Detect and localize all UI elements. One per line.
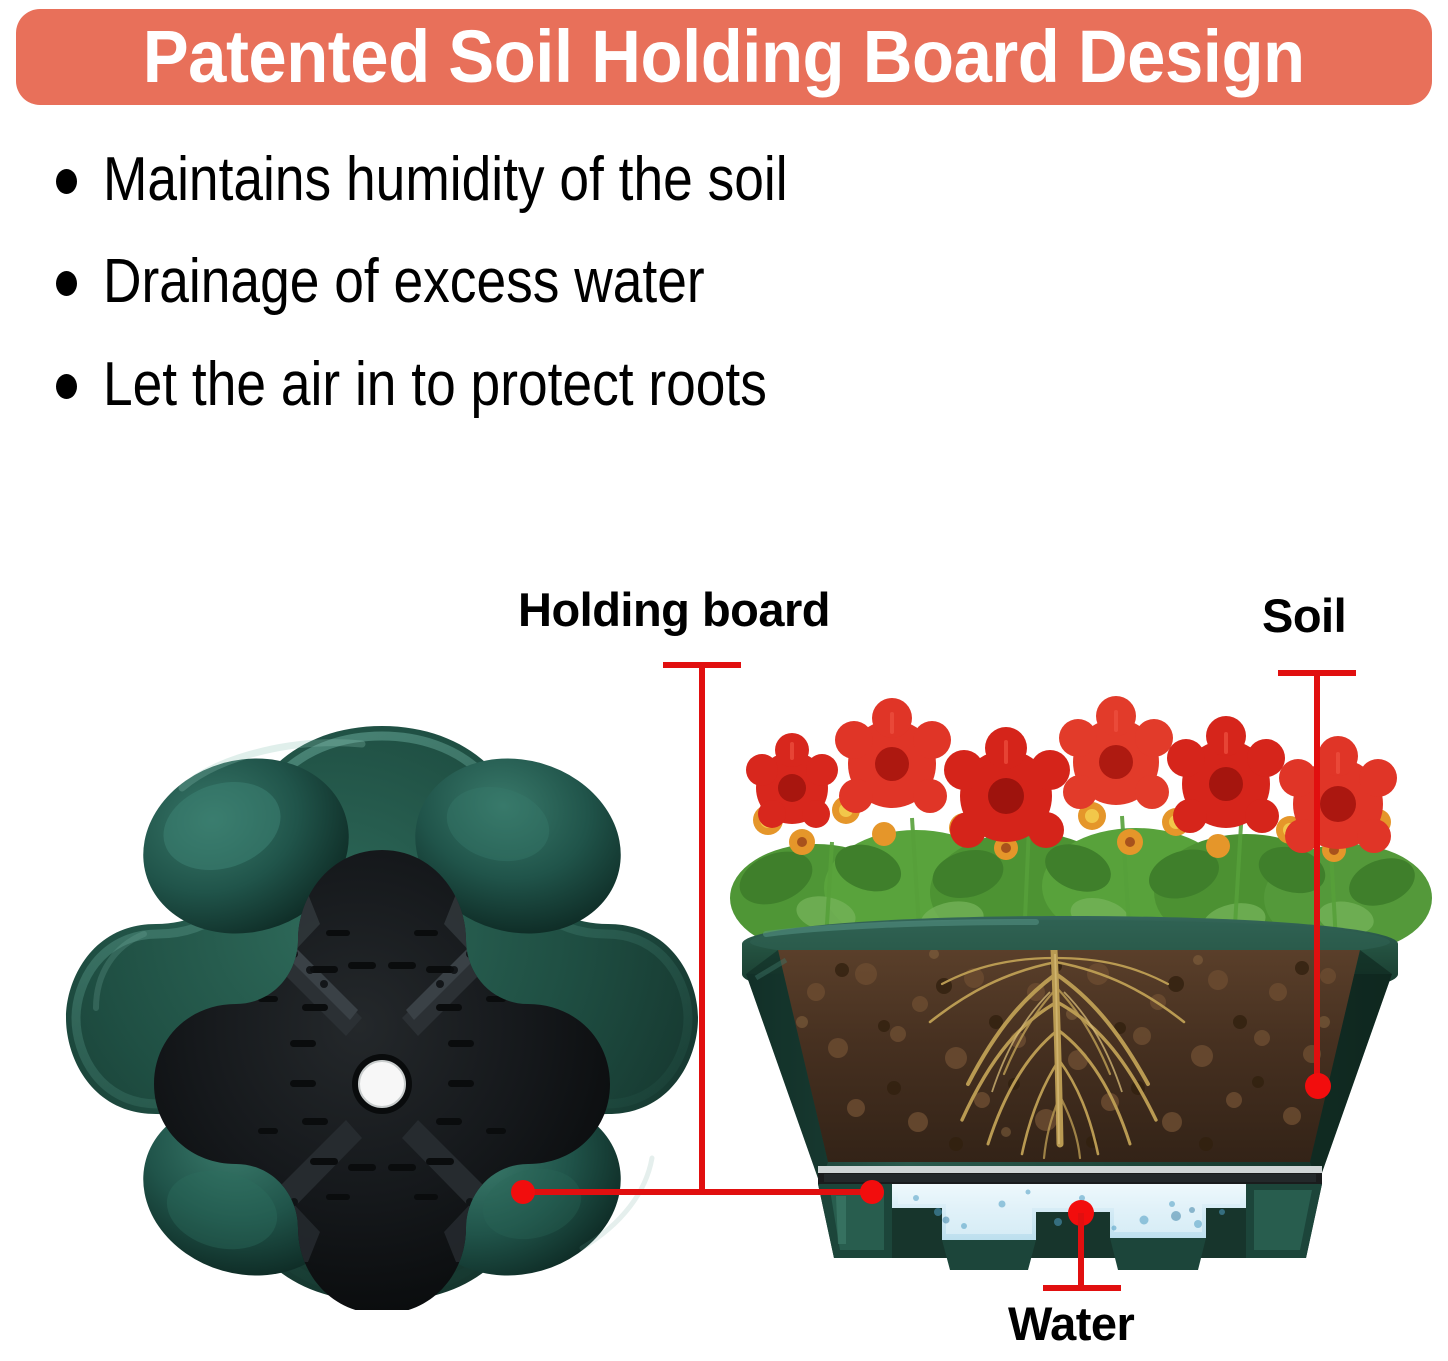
feature-list: Maintains humidity of the soil Drainage … bbox=[56, 148, 1176, 455]
feature-text: Maintains humidity of the soil bbox=[103, 148, 788, 212]
callout-label-water: Water bbox=[1008, 1296, 1134, 1351]
leader-dot-holding-board-left bbox=[511, 1180, 535, 1204]
leader-line-water bbox=[1078, 1213, 1084, 1289]
bullet-dot-icon bbox=[56, 169, 77, 194]
bullet-dot-icon bbox=[56, 271, 77, 296]
holding-board-plate bbox=[818, 1166, 1322, 1184]
quatrefoil-planter-image bbox=[62, 718, 702, 1310]
header-banner: Patented Soil Holding Board Design bbox=[16, 9, 1432, 105]
pot-body-and-soil bbox=[746, 949, 1392, 1184]
flower-cluster bbox=[730, 696, 1432, 952]
page-title: Patented Soil Holding Board Design bbox=[143, 20, 1305, 94]
list-item: Maintains humidity of the soil bbox=[56, 148, 1176, 212]
feature-text: Let the air in to protect roots bbox=[103, 353, 767, 417]
infographic-page: Patented Soil Holding Board Design Maint… bbox=[0, 0, 1448, 1361]
leader-line-holding-board-horizontal bbox=[523, 1189, 873, 1195]
leader-cap-water bbox=[1043, 1285, 1121, 1291]
leader-dot-soil bbox=[1305, 1073, 1331, 1099]
water-reservoir bbox=[818, 1184, 1322, 1270]
feature-text: Drainage of excess water bbox=[103, 250, 705, 314]
leader-line-holding-board-vertical bbox=[699, 662, 705, 1195]
bullet-dot-icon bbox=[56, 374, 77, 399]
leader-line-soil bbox=[1314, 670, 1320, 1086]
callout-label-holding-board: Holding board bbox=[518, 582, 830, 637]
red-chrysanthemums bbox=[746, 696, 1397, 853]
list-item: Drainage of excess water bbox=[56, 250, 1176, 314]
callout-label-soil: Soil bbox=[1262, 588, 1346, 643]
list-item: Let the air in to protect roots bbox=[56, 353, 1176, 417]
leader-dot-holding-board-right bbox=[860, 1180, 884, 1204]
planter-cross-section-image bbox=[706, 692, 1432, 1292]
